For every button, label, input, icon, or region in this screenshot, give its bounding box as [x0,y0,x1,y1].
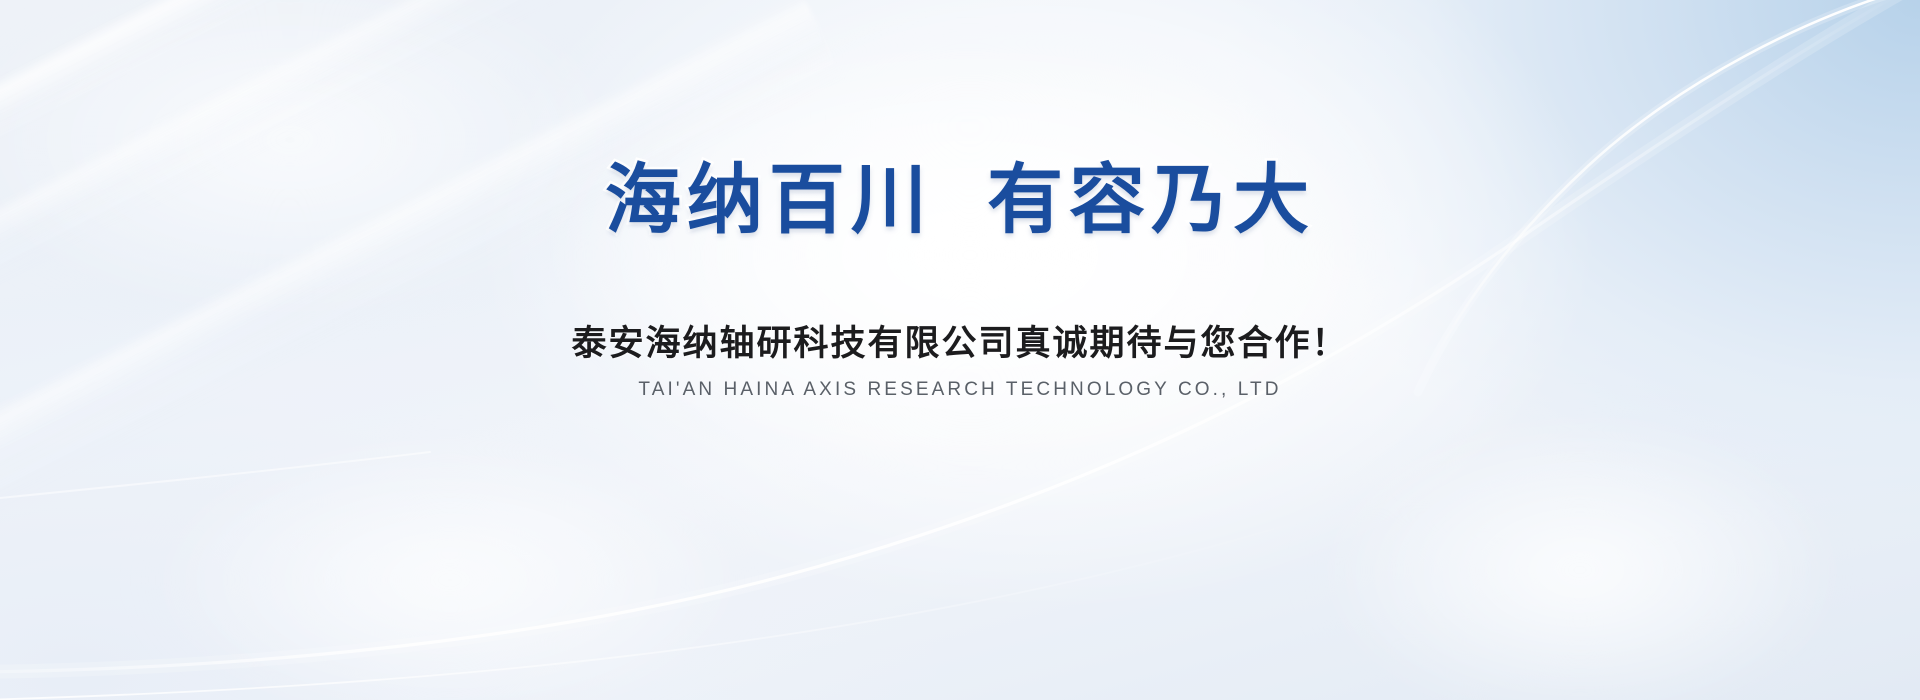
banner-content: 海纳百川 有容乃大 泰安海纳轴研科技有限公司真诚期待与您合作！ TAI'AN H… [0,0,1920,700]
hero-banner: 海纳百川 有容乃大 泰安海纳轴研科技有限公司真诚期待与您合作！ TAI'AN H… [0,0,1920,700]
banner-subtitle-english: TAI'AN HAINA AXIS RESEARCH TECHNOLOGY CO… [638,379,1281,401]
banner-subtitle-chinese: 泰安海纳轴研科技有限公司真诚期待与您合作！ [571,315,1348,366]
banner-headline: 海纳百川 有容乃大 [605,158,1315,243]
